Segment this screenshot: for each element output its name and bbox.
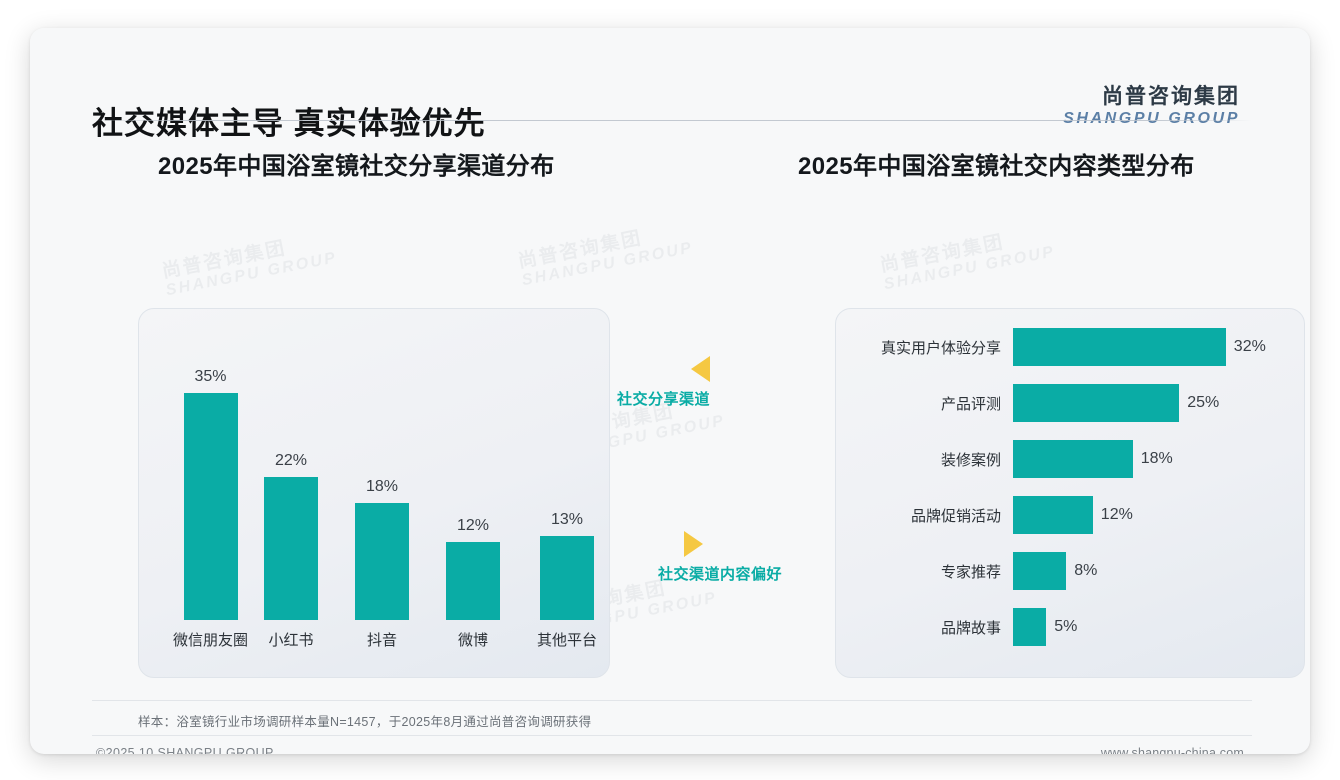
bar[interactable]: [355, 503, 409, 620]
header-divider: [92, 120, 1252, 121]
bar[interactable]: [1013, 496, 1093, 534]
bar-value-label: 32%: [1234, 338, 1266, 356]
bar-row[interactable]: 产品评测25%: [835, 384, 1305, 422]
watermark-cn: 尚普咨询集团: [515, 214, 691, 274]
watermark-cn: 尚普咨询集团: [877, 218, 1053, 278]
brand-logo: 尚普咨询集团 SHANGPU GROUP: [1063, 86, 1240, 128]
watermark-en: SHANGPU GROUP: [882, 243, 1057, 294]
watermark-en: SHANGPU GROUP: [520, 239, 695, 290]
watermark-en: SHANGPU GROUP: [164, 249, 339, 300]
bar-group[interactable]: 18%抖音: [355, 478, 409, 650]
watermark-cn: 尚普咨询集团: [159, 224, 335, 284]
bar[interactable]: [264, 477, 318, 620]
right-chart-title: 2025年中国浴室镜社交内容类型分布: [798, 146, 1268, 181]
bar-value-label: 12%: [457, 517, 489, 535]
footer-divider: [92, 735, 1252, 736]
copyright-text: ©2025.10 SHANGPU GROUP: [96, 746, 274, 754]
bar-category-label: 装修案例: [835, 449, 1013, 470]
bar-value-label: 13%: [551, 511, 583, 529]
bar[interactable]: [1013, 608, 1046, 646]
annotation-social-share-channel: 社交分享渠道: [550, 356, 710, 409]
bar-value-label: 22%: [275, 452, 307, 470]
bar-category-label: 产品评测: [835, 393, 1013, 414]
bar-group[interactable]: 13%其他平台: [537, 511, 597, 651]
left-chart-title: 2025年中国浴室镜社交分享渠道分布: [158, 146, 668, 181]
bar[interactable]: [540, 536, 594, 621]
bar[interactable]: [1013, 440, 1133, 478]
bar-row[interactable]: 真实用户体验分享32%: [835, 328, 1305, 366]
triangle-right-icon: [684, 531, 703, 557]
bar-category-label: 专家推荐: [835, 561, 1013, 582]
bar[interactable]: [1013, 328, 1226, 366]
bar[interactable]: [184, 393, 238, 621]
bar-value-label: 5%: [1054, 618, 1077, 636]
bar-value-label: 25%: [1187, 394, 1219, 412]
source-note: 样本：浴室镜行业市场调研样本量N=1457，于2025年8月通过尚普咨询调研获得: [138, 711, 591, 730]
bar-value-label: 12%: [1101, 506, 1133, 524]
horizontal-bar-chart[interactable]: 真实用户体验分享32%产品评测25%装修案例18%品牌促销活动12%专家推荐8%…: [835, 308, 1305, 678]
bar-row[interactable]: 品牌故事5%: [835, 608, 1305, 646]
bar-category-label: 其他平台: [537, 629, 597, 650]
vertical-bar-chart[interactable]: 35%微信朋友圈22%小红书18%抖音12%微博13%其他平台: [138, 308, 610, 678]
bar-category-label: 抖音: [367, 629, 397, 650]
bar-group[interactable]: 22%小红书: [264, 452, 318, 650]
logo-text-en: SHANGPU GROUP: [1063, 109, 1240, 128]
bar-row[interactable]: 品牌促销活动12%: [835, 496, 1305, 534]
bar[interactable]: [1013, 552, 1066, 590]
bar-row[interactable]: 装修案例18%: [835, 440, 1305, 478]
bar-category-label: 品牌故事: [835, 617, 1013, 638]
bar-group[interactable]: 12%微博: [446, 517, 500, 650]
bar-category-label: 微博: [458, 629, 488, 650]
left-chart-panel: 2025年中国浴室镜社交分享渠道分布: [108, 146, 668, 181]
logo-text-cn: 尚普咨询集团: [1063, 86, 1240, 108]
watermark: 尚普咨询集团 SHANGPU GROUP: [515, 214, 695, 290]
annotation-label: 社交分享渠道: [550, 388, 710, 409]
bar-row[interactable]: 专家推荐8%: [835, 552, 1305, 590]
bar-category-label: 小红书: [268, 629, 313, 650]
annotation-channel-content-preference: 社交渠道内容偏好: [658, 531, 838, 584]
bar[interactable]: [446, 542, 500, 620]
right-chart-panel: 2025年中国浴室镜社交内容类型分布: [748, 146, 1268, 181]
source-divider: [92, 700, 1252, 701]
bar-category-label: 真实用户体验分享: [835, 337, 1013, 358]
bar-category-label: 品牌促销活动: [835, 505, 1013, 526]
bar-category-label: 微信朋友圈: [173, 629, 248, 650]
website-link[interactable]: www.shangpu-china.com: [1101, 746, 1244, 754]
watermark: 尚普咨询集团 SHANGPU GROUP: [877, 218, 1057, 294]
bar-value-label: 35%: [194, 368, 226, 386]
bar-value-label: 18%: [1141, 450, 1173, 468]
slide-canvas: 尚普咨询集团 SHANGPU GROUP 尚普咨询集团 SHANGPU GROU…: [30, 28, 1310, 754]
bar[interactable]: [1013, 384, 1179, 422]
bar-value-label: 18%: [366, 478, 398, 496]
annotation-label: 社交渠道内容偏好: [658, 563, 838, 584]
watermark: 尚普咨询集团 SHANGPU GROUP: [159, 224, 339, 300]
bar-value-label: 8%: [1074, 562, 1097, 580]
bar-group[interactable]: 35%微信朋友圈: [173, 368, 248, 651]
triangle-left-icon: [691, 356, 710, 382]
